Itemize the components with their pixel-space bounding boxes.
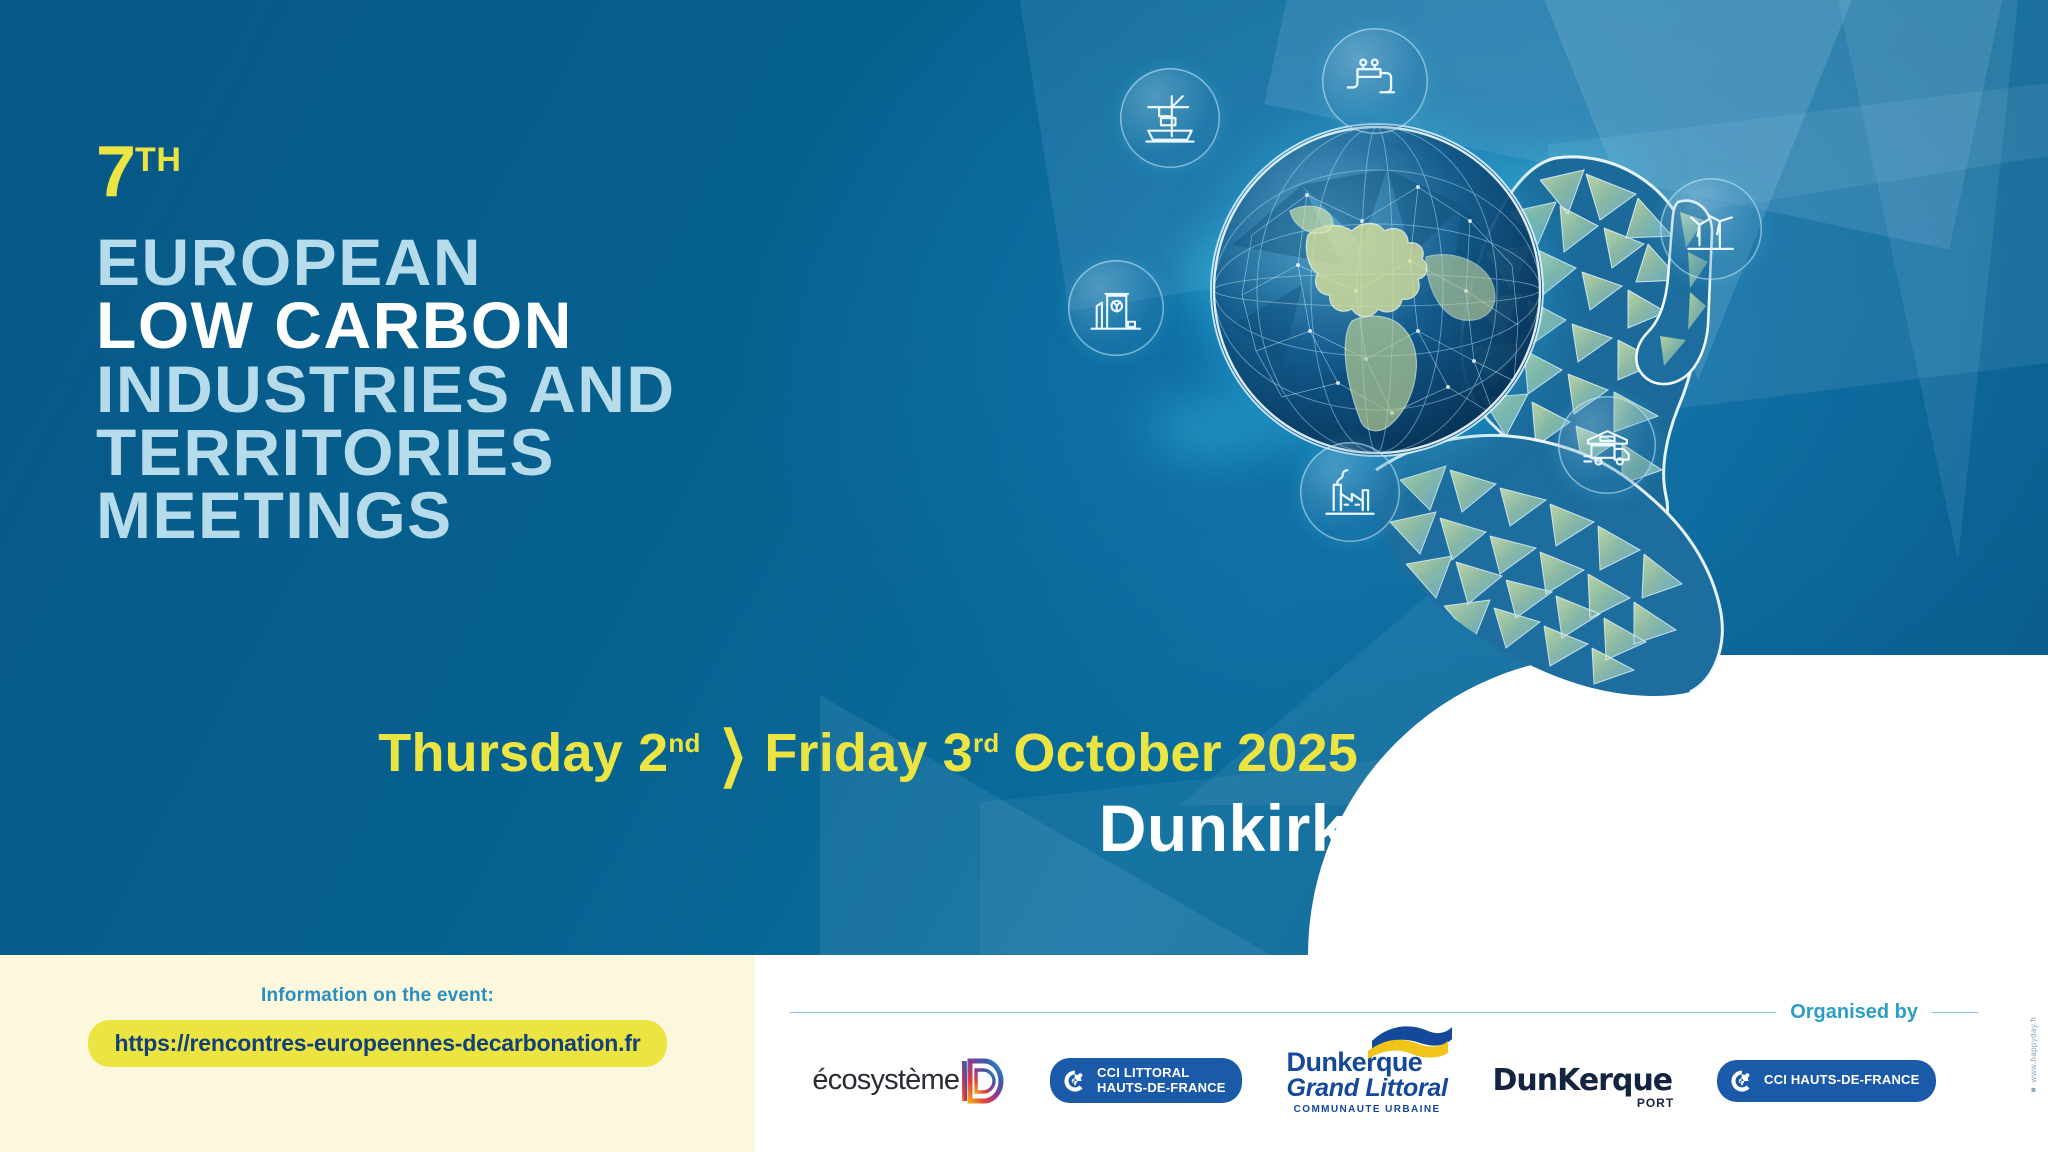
factory-icon [1300, 442, 1400, 542]
end-day-suffix: rd [973, 728, 999, 758]
dgl-flag-icon [1366, 1021, 1454, 1061]
rule-right [1932, 1012, 1978, 1014]
port-crane-icon [1120, 68, 1220, 168]
event-info-panel: Information on the event: https://rencon… [0, 955, 755, 1152]
cci-emblem-icon [1062, 1068, 1088, 1094]
headline-block: 7TH EUROPEAN LOW CARBON INDUSTRIES AND T… [96, 140, 676, 548]
globe-mesh [1212, 125, 1542, 455]
footer-bar: Information on the event: https://rencon… [0, 955, 2048, 1152]
title-line-3: INDUSTRIES AND [96, 358, 676, 421]
end-day: Friday 3 [764, 723, 973, 783]
organisers-panel: Organised by écosystème [755, 955, 2048, 1152]
cci-littoral-line1: CCI LITTORAL [1097, 1066, 1226, 1081]
cci-emblem-icon [1729, 1068, 1755, 1094]
cci-hdf-line1: CCI HAUTS-DE-FRANCE [1764, 1073, 1919, 1088]
dgl-line2: Grand Littoral [1287, 1074, 1448, 1103]
wind-turbine-icon [1660, 178, 1762, 280]
event-url-link[interactable]: https://rencontres-europeennes-decarbona… [88, 1020, 666, 1067]
edition-number: 7TH [96, 140, 676, 205]
logo-cci-hauts-de-france[interactable]: CCI HAUTS-DE-FRANCE [1717, 1060, 1935, 1102]
ecosysteme-d-mark [961, 1057, 1005, 1105]
edition-suffix: TH [135, 141, 181, 179]
dunkerque-port-wordmark: DunKerque [1493, 1063, 1673, 1098]
rule-left [790, 1012, 1776, 1014]
event-poster: 7TH EUROPEAN LOW CARBON INDUSTRIES AND T… [0, 0, 2048, 1152]
logo-dunkerque-grand-littoral[interactable]: Dunkerque Grand Littoral COMMUNAUTE URBA… [1287, 1047, 1448, 1115]
water-valve-pipe-icon [1322, 28, 1428, 134]
hero-illustration [1060, 10, 2048, 730]
title-line-1: EUROPEAN [96, 231, 676, 294]
page-title: EUROPEAN LOW CARBON INDUSTRIES AND TERRI… [96, 231, 676, 548]
title-line-5: MEETINGS [96, 484, 676, 547]
ecosysteme-wordmark: écosystème [812, 1064, 959, 1097]
logo-dunkerque-port[interactable]: DunKerque PORT [1493, 1063, 1673, 1098]
dunkerque-port-suffix: PORT [1637, 1096, 1674, 1110]
cci-littoral-line2: HAUTS-DE-FRANCE [1097, 1081, 1226, 1096]
event-dates: Thursday 2nd❯Friday 3rdOctober 2025 [378, 722, 1358, 784]
event-city: Dunkirk [1099, 790, 1348, 866]
nuclear-plant-icon [1068, 260, 1164, 356]
logistics-truck-icon [1558, 396, 1656, 494]
title-line-4: TERRITORIES [96, 421, 676, 484]
logo-ecosysteme-d[interactable]: écosystème [812, 1057, 1005, 1105]
globe-sphere [1212, 125, 1542, 455]
hero-banner: 7TH EUROPEAN LOW CARBON INDUSTRIES AND T… [0, 0, 2048, 955]
start-day-suffix: nd [668, 728, 700, 758]
designer-credit: ■ www.happyday.fr [2029, 1016, 2038, 1094]
organised-by-label: Organised by [1790, 1001, 1918, 1024]
logo-cci-littoral-hauts-de-france[interactable]: CCI LITTORAL HAUTS-DE-FRANCE [1050, 1058, 1242, 1103]
start-day: Thursday 2 [378, 723, 668, 783]
organiser-logos: écosystème [790, 1033, 1958, 1128]
title-line-2: LOW CARBON [96, 294, 676, 357]
info-label: Information on the event: [261, 985, 494, 1007]
wireframe-globe [1212, 125, 1542, 455]
dgl-line3: COMMUNAUTE URBAINE [1287, 1104, 1448, 1115]
month-year: October 2025 [1013, 723, 1358, 783]
edition-value: 7 [96, 132, 135, 212]
chevron-right-icon: ❯ [718, 719, 748, 790]
